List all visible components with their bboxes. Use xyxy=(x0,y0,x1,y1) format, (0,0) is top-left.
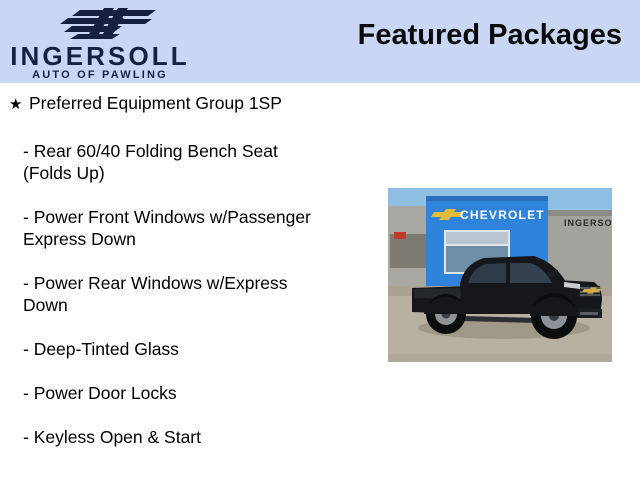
feature-list: - Rear 60/40 Folding Bench Seat (Folds U… xyxy=(23,140,363,470)
list-item: - Power Front Windows w/Passenger Expres… xyxy=(23,206,363,250)
list-item: - Power Rear Windows w/Express Down xyxy=(23,272,363,316)
main-content: ★ Preferred Equipment Group 1SP - Rear 6… xyxy=(0,83,640,480)
list-item: - Rear 60/40 Folding Bench Seat (Folds U… xyxy=(23,140,363,184)
brand-tagline: AUTO OF PAWLING xyxy=(0,70,200,81)
dealership-sign-text: CHEVROLET xyxy=(460,208,545,222)
list-item: - Power Door Locks xyxy=(23,382,363,404)
vehicle-photo: INGERSOL CHEVROLET xyxy=(388,188,612,362)
building-sign-text: INGERSOL xyxy=(564,218,612,228)
package-heading-label: Preferred Equipment Group 1SP xyxy=(29,95,282,113)
package-heading: ★ Preferred Equipment Group 1SP xyxy=(9,95,282,113)
dealer-brand-logo: INGERSOLL AUTO OF PAWLING xyxy=(0,2,205,82)
star-icon: ★ xyxy=(9,97,29,112)
page-title: Featured Packages xyxy=(358,20,622,52)
list-item: - Deep-Tinted Glass xyxy=(23,338,363,360)
page-header: INGERSOLL AUTO OF PAWLING Featured Packa… xyxy=(0,0,640,83)
brand-wordmark: INGERSOLL xyxy=(0,43,200,69)
ingersoll-wing-emblem-icon xyxy=(52,7,158,40)
list-item: - Keyless Open & Start xyxy=(23,426,363,448)
